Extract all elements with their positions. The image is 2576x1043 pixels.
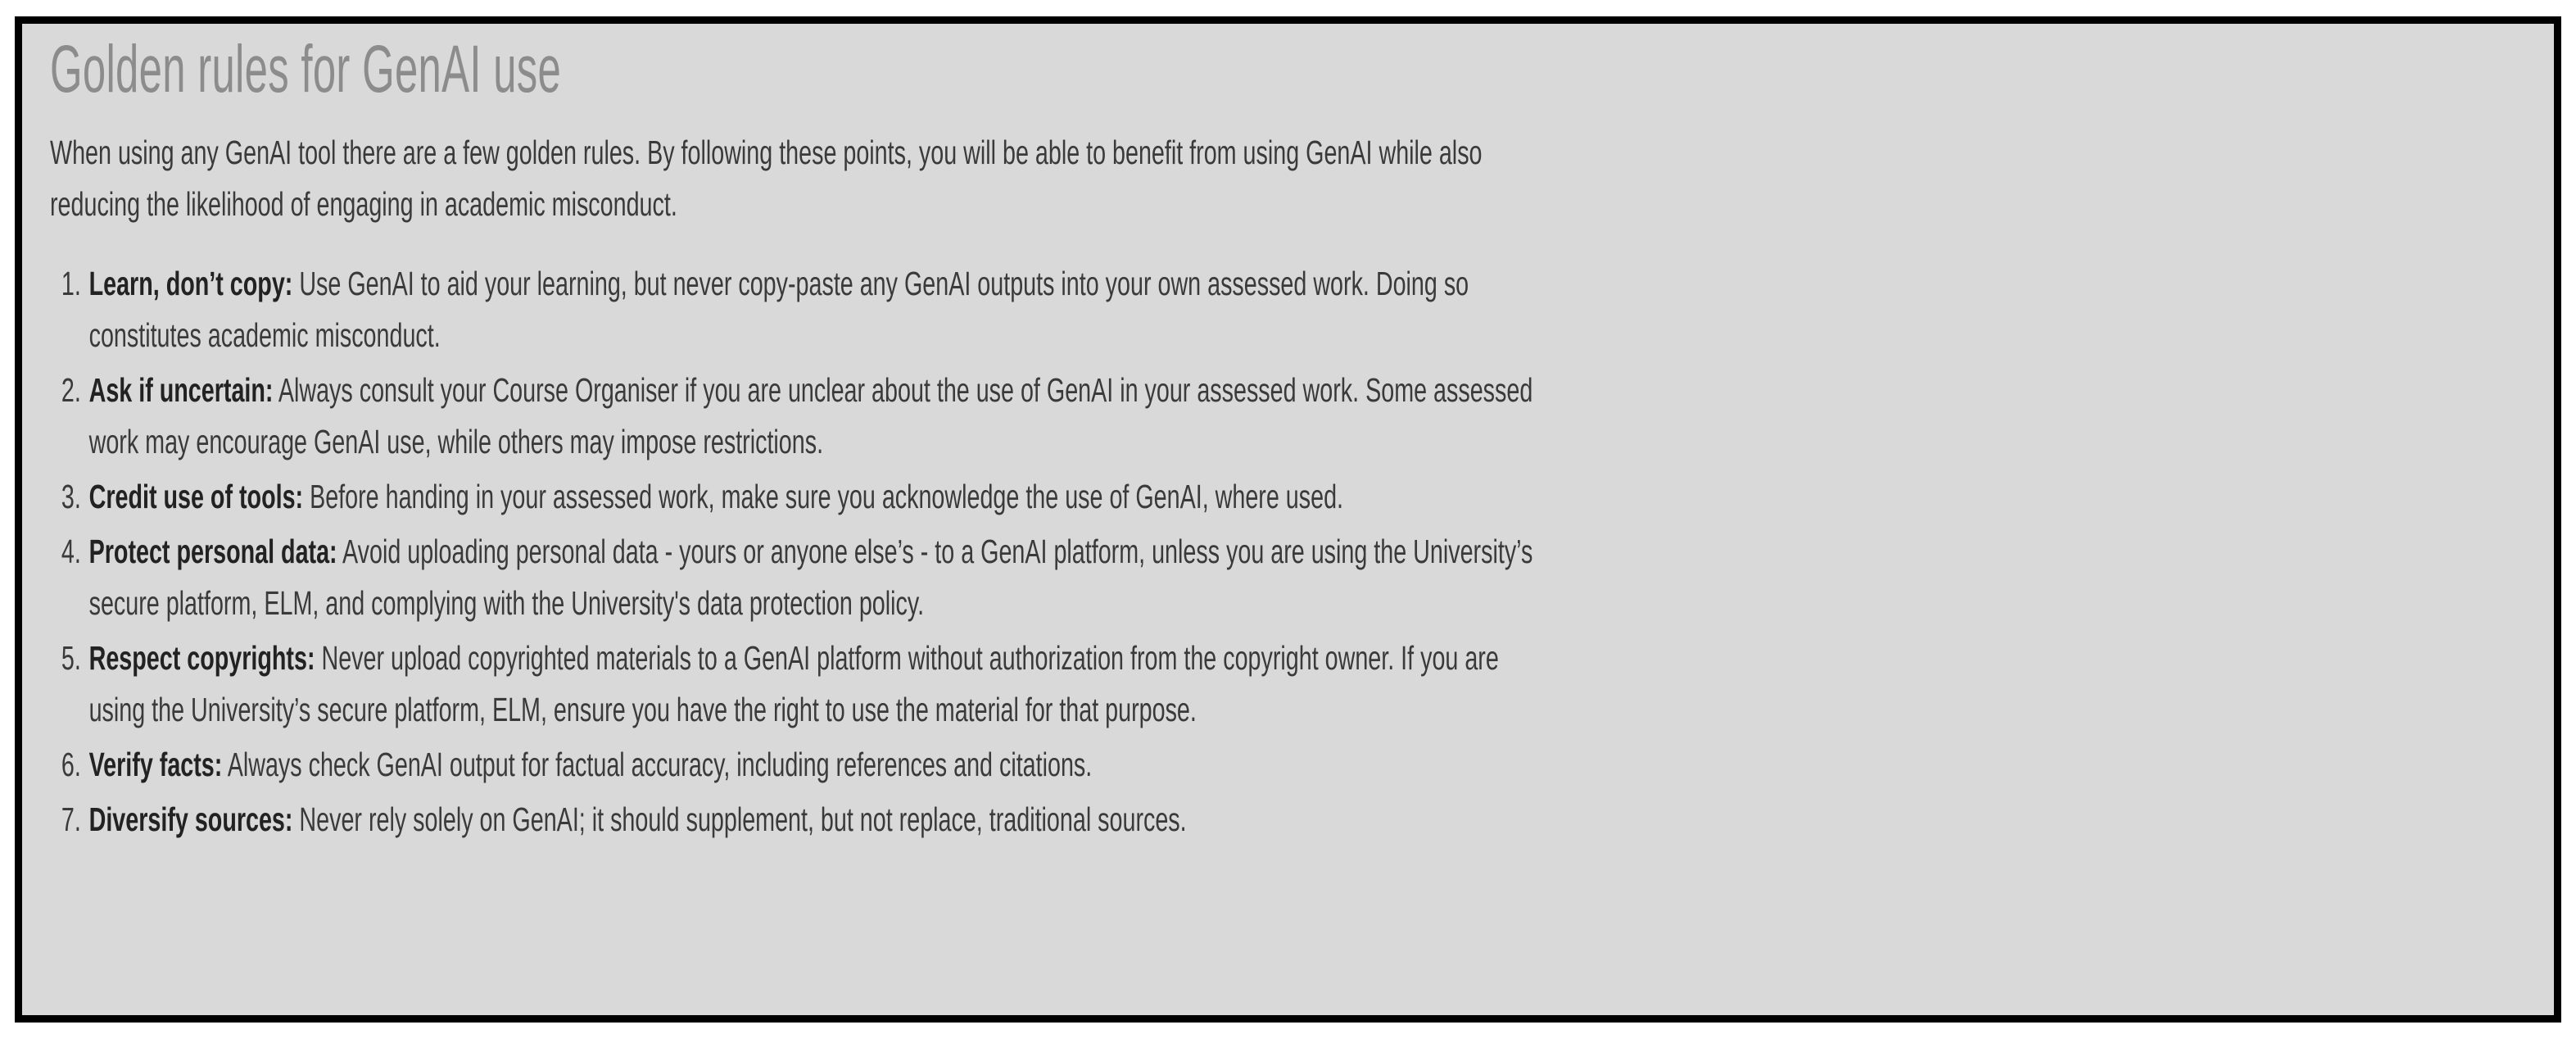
rule-label: Diversify sources:: [89, 800, 293, 838]
page-title: Golden rules for GenAI use: [50, 30, 1585, 109]
rule-line-2: work may encourage GenAI use, while othe…: [89, 416, 2526, 468]
rules-list: 1. Learn, don’t copy: Use GenAI to aid y…: [50, 258, 2526, 846]
rule-body: Always consult your Course Organiser if …: [273, 371, 1532, 409]
rule-body: Never rely solely on GenAI; it should su…: [292, 800, 1186, 838]
list-item: 6. Verify facts: Always check GenAI outp…: [50, 739, 2526, 791]
list-item: 2. Ask if uncertain: Always consult your…: [50, 365, 2526, 468]
intro-line-1: When using any GenAI tool there are a fe…: [50, 127, 2526, 179]
rule-body: Before handing in your assessed work, ma…: [303, 478, 1343, 515]
rule-body: Use GenAI to aid your learning, but neve…: [292, 265, 1469, 302]
rule-body: Never upload copyrighted materials to a …: [315, 639, 1499, 677]
rule-number: 5.: [50, 633, 81, 684]
rule-line-1: Respect copyrights: Never upload copyrig…: [89, 633, 2526, 684]
rule-line-1: Ask if uncertain: Always consult your Co…: [89, 365, 2526, 416]
golden-rules-callout-box: Golden rules for GenAI use When using an…: [15, 16, 2561, 1023]
rule-line-1: Protect personal data: Avoid uploading p…: [89, 526, 2526, 578]
intro-paragraph: When using any GenAI tool there are a fe…: [50, 127, 2526, 230]
rule-number: 3.: [50, 471, 81, 523]
list-item: 7. Diversify sources: Never rely solely …: [50, 794, 2526, 846]
rule-number: 6.: [50, 739, 81, 791]
rule-line-1: Credit use of tools: Before handing in y…: [89, 471, 2526, 523]
rule-label: Learn, don’t copy:: [89, 265, 293, 302]
list-item: 5. Respect copyrights: Never upload copy…: [50, 633, 2526, 736]
list-item: 4. Protect personal data: Avoid uploadin…: [50, 526, 2526, 629]
rule-line-2: constitutes academic misconduct.: [89, 310, 2526, 361]
rule-line-2: using the University’s secure platform, …: [89, 684, 2526, 736]
intro-line-2: reducing the likelihood of engaging in a…: [50, 179, 2526, 230]
rule-label: Protect personal data:: [89, 533, 337, 570]
rule-number: 2.: [50, 365, 81, 416]
rule-line-1: Diversify sources: Never rely solely on …: [89, 794, 2526, 846]
rule-label: Ask if uncertain:: [89, 371, 274, 409]
rule-number: 7.: [50, 794, 81, 846]
rule-number: 1.: [50, 258, 81, 310]
list-item: 3. Credit use of tools: Before handing i…: [50, 471, 2526, 523]
rule-label: Credit use of tools:: [89, 478, 304, 515]
rule-body: Avoid uploading personal data - yours or…: [337, 533, 1533, 570]
rule-line-1: Learn, don’t copy: Use GenAI to aid your…: [89, 258, 2526, 310]
rule-label: Respect copyrights:: [89, 639, 315, 677]
callout-content: Golden rules for GenAI use When using an…: [22, 24, 2554, 1015]
rule-line-1: Verify facts: Always check GenAI output …: [89, 739, 2526, 791]
rule-line-2: secure platform, ELM, and complying with…: [89, 578, 2526, 629]
list-item: 1. Learn, don’t copy: Use GenAI to aid y…: [50, 258, 2526, 361]
rule-label: Verify facts:: [89, 746, 223, 783]
rule-body: Always check GenAI output for factual ac…: [222, 746, 1092, 783]
rule-number: 4.: [50, 526, 81, 578]
